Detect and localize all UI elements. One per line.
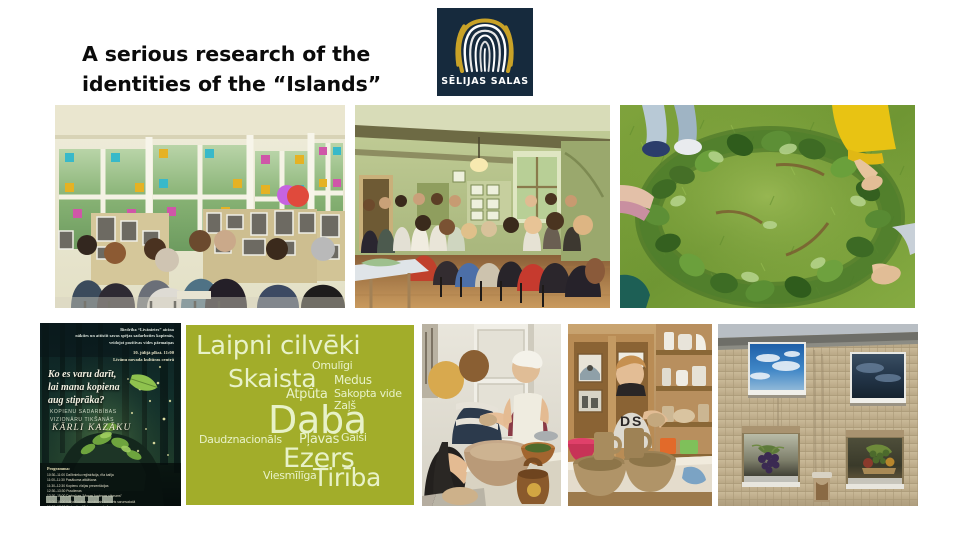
selijas-salas-logo: SĒLIJAS SALAS [437, 8, 533, 96]
svg-text:D: D [620, 413, 630, 429]
photo-bread-baking-workshop [422, 324, 561, 506]
word-cloud-word: Viesmīlīga [263, 470, 316, 481]
photo-pottery-workshop: DS [568, 324, 712, 506]
word-cloud-word: Gaiši [341, 432, 367, 443]
poster-title: Ko es varu darīt, lai mana kopiena aug s… [48, 368, 160, 407]
word-cloud-word: Daudznacionāls [199, 434, 282, 445]
presentation-slide: A serious research of the identities of … [0, 0, 970, 546]
word-cloud-word: Omulīgi [312, 360, 352, 371]
poster-date: 10. jūlijā plkst. 11:00 Līvānu novada ku… [40, 350, 181, 364]
photo-community-meeting-bright-room [55, 105, 345, 308]
photo-leaf-wreath-on-grass [620, 105, 915, 308]
poster-guest-name: KĀRLI KAZĀKU [52, 423, 132, 433]
fingerprint-icon [454, 15, 516, 73]
poster-header: Biedrība “Līvānietes” aicina nākties un … [40, 327, 181, 346]
word-cloud-word: Tirība [313, 465, 381, 490]
logo-text: SĒLIJAS SALAS [437, 76, 533, 87]
poster-sponsor-logos [46, 496, 113, 503]
word-cloud-word: Laipni cilvēki [196, 333, 360, 359]
photo-community-meeting-green-hall [355, 105, 610, 308]
page-title: A serious research of the identities of … [82, 40, 382, 99]
photo-painted-window-building [718, 324, 918, 506]
word-cloud-word: Medus [334, 374, 372, 386]
photo-word-cloud: Laipni cilvēkiOmulīgiSkaistaMedusAtpūtaS… [186, 325, 414, 505]
svg-text:S: S [632, 413, 641, 429]
photo-event-poster: Biedrība “Līvānietes” aicina nākties un … [40, 323, 181, 506]
poster-program-label: Programma: [47, 466, 70, 471]
poster-subtitle: KOPIENU SADARBĪBAS VIZIONĀRU TIKŠANĀS [50, 408, 165, 424]
